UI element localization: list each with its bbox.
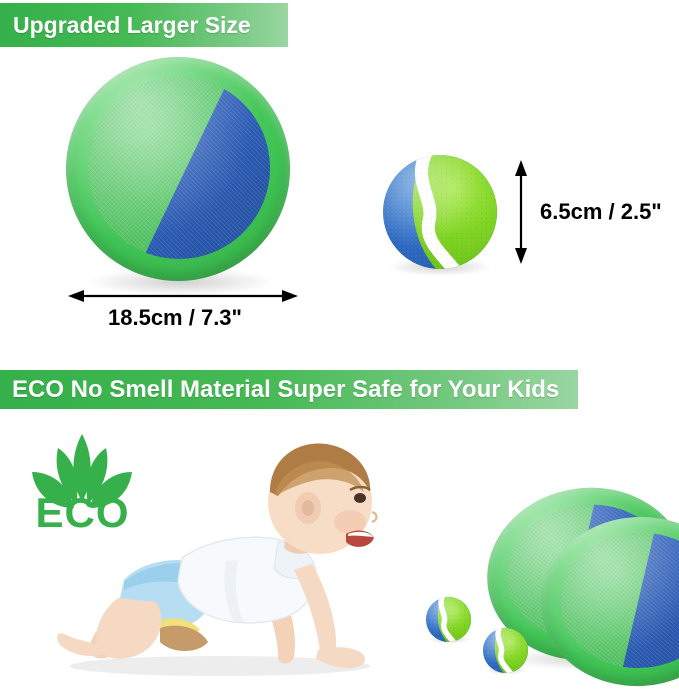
- paddle-velcro-face: [88, 77, 270, 259]
- paddle-front-velcro-face: [555, 528, 679, 674]
- dimension-line-width: [66, 286, 300, 306]
- baby-knee: [160, 626, 208, 651]
- banner-eco-text: ECO No Smell Material Super Safe for You…: [12, 376, 559, 404]
- banner-upgraded-text: Upgraded Larger Size: [13, 12, 251, 39]
- ball-small-1-gloss-highlight: [426, 597, 471, 642]
- baby-front-leg: [96, 598, 161, 659]
- baby-eye: [354, 493, 366, 503]
- product-ball-small-2: [483, 628, 528, 673]
- baby-cheek: [334, 510, 366, 534]
- dimension-label-paddle-width: 18.5cm / 7.3": [108, 305, 242, 331]
- product-ball-small-1: [426, 597, 471, 642]
- baby-ear-inner: [302, 500, 314, 516]
- paddle-face-weave-texture: [88, 77, 270, 259]
- dimension-label-ball-height: 6.5cm / 2.5": [540, 199, 662, 225]
- product-paddle-main: [66, 57, 290, 281]
- product-ball-main: [383, 155, 497, 269]
- banner-upgraded-larger-size: Upgraded Larger Size: [0, 3, 288, 47]
- ball-gloss-highlight: [383, 155, 497, 269]
- baby-front-arm: [294, 564, 336, 660]
- photo-crawling-baby: [20, 430, 410, 680]
- banner-eco-no-smell: ECO No Smell Material Super Safe for You…: [0, 370, 578, 409]
- baby-nose: [372, 512, 377, 522]
- dimension-line-height: [511, 158, 531, 266]
- ball-small-2-gloss-highlight: [483, 628, 528, 673]
- paddle-front-face-weave-texture: [555, 528, 679, 674]
